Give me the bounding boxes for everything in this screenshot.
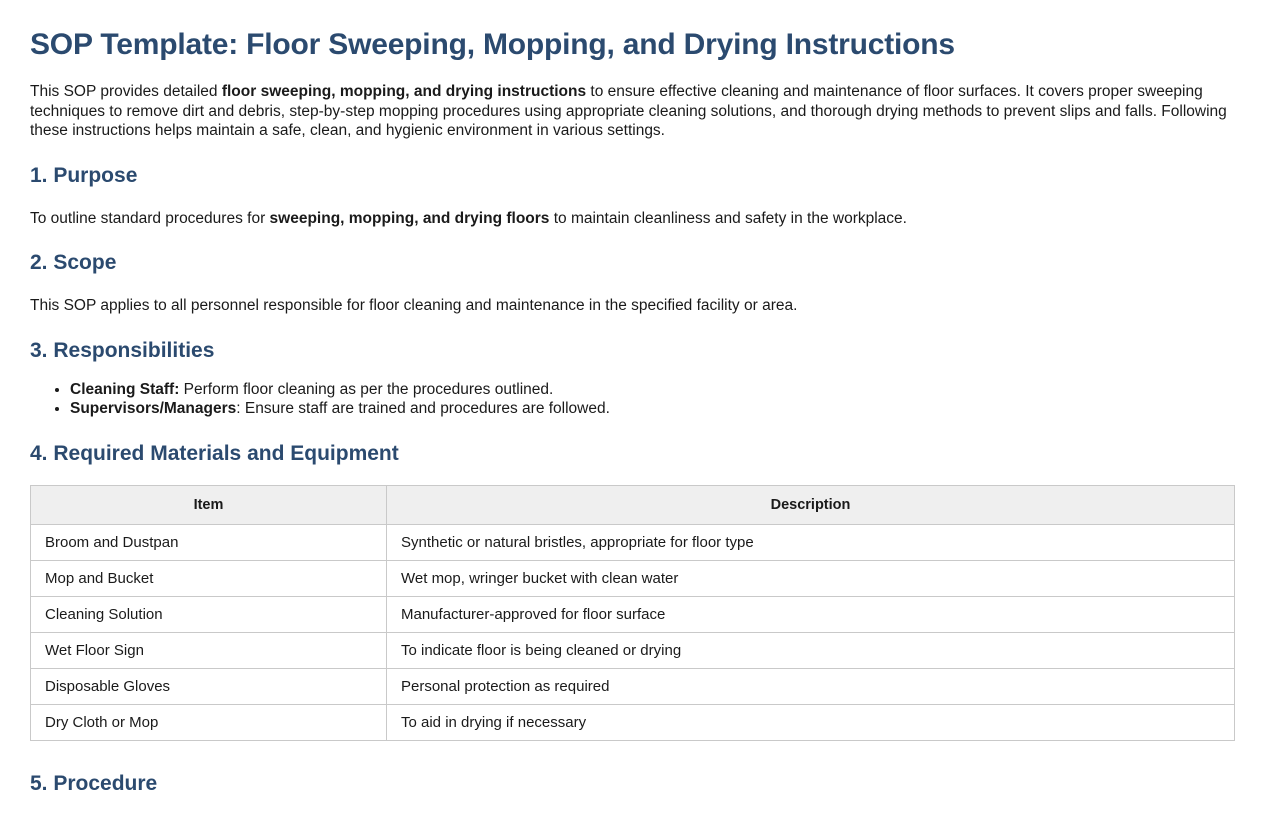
cell-description: Personal protection as required xyxy=(387,668,1235,704)
table-row: Disposable Gloves Personal protection as… xyxy=(31,668,1235,704)
document-page: SOP Template: Floor Sweeping, Mopping, a… xyxy=(0,0,1263,797)
responsibility-role-label: Supervisors/Managers xyxy=(70,400,236,417)
cell-description: Synthetic or natural bristles, appropria… xyxy=(387,524,1235,560)
table-row: Cleaning Solution Manufacturer-approved … xyxy=(31,596,1235,632)
section-heading-procedure: 5. Procedure xyxy=(30,771,1233,797)
list-item: Supervisors/Managers: Ensure staff are t… xyxy=(70,399,1233,419)
purpose-text: To outline standard procedures for sweep… xyxy=(30,209,1233,229)
table-row: Broom and Dustpan Synthetic or natural b… xyxy=(31,524,1235,560)
scope-text: This SOP applies to all personnel respon… xyxy=(30,296,1233,316)
responsibilities-list: Cleaning Staff: Perform floor cleaning a… xyxy=(30,380,1233,419)
section-heading-responsibilities: 3. Responsibilities xyxy=(30,338,1233,364)
cell-description: To aid in drying if necessary xyxy=(387,704,1235,740)
responsibility-description: : Ensure staff are trained and procedure… xyxy=(236,400,610,417)
table-row: Wet Floor Sign To indicate floor is bein… xyxy=(31,632,1235,668)
cell-description: To indicate floor is being cleaned or dr… xyxy=(387,632,1235,668)
responsibility-description: Perform floor cleaning as per the proced… xyxy=(179,381,553,398)
intro-bold-phrase: floor sweeping, mopping, and drying inst… xyxy=(222,83,586,100)
cell-description: Manufacturer-approved for floor surface xyxy=(387,596,1235,632)
column-header-description: Description xyxy=(387,485,1235,524)
table-header-row: Item Description xyxy=(31,485,1235,524)
cell-item: Wet Floor Sign xyxy=(31,632,387,668)
page-title: SOP Template: Floor Sweeping, Mopping, a… xyxy=(30,26,1233,64)
cell-description: Wet mop, wringer bucket with clean water xyxy=(387,560,1235,596)
column-header-item: Item xyxy=(31,485,387,524)
purpose-text-part2: to maintain cleanliness and safety in th… xyxy=(549,210,907,227)
cell-item: Disposable Gloves xyxy=(31,668,387,704)
purpose-bold-phrase: sweeping, mopping, and drying floors xyxy=(270,210,550,227)
purpose-text-part1: To outline standard procedures for xyxy=(30,210,270,227)
materials-table: Item Description Broom and Dustpan Synth… xyxy=(30,485,1235,741)
table-header: Item Description xyxy=(31,485,1235,524)
section-heading-purpose: 1. Purpose xyxy=(30,163,1233,189)
cell-item: Dry Cloth or Mop xyxy=(31,704,387,740)
responsibility-role-label: Cleaning Staff: xyxy=(70,381,179,398)
list-item: Cleaning Staff: Perform floor cleaning a… xyxy=(70,380,1233,400)
cell-item: Mop and Bucket xyxy=(31,560,387,596)
cell-item: Cleaning Solution xyxy=(31,596,387,632)
section-heading-scope: 2. Scope xyxy=(30,250,1233,276)
table-row: Mop and Bucket Wet mop, wringer bucket w… xyxy=(31,560,1235,596)
cell-item: Broom and Dustpan xyxy=(31,524,387,560)
table-body: Broom and Dustpan Synthetic or natural b… xyxy=(31,524,1235,740)
section-heading-materials: 4. Required Materials and Equipment xyxy=(30,441,1233,467)
intro-paragraph: This SOP provides detailed floor sweepin… xyxy=(30,82,1233,141)
table-row: Dry Cloth or Mop To aid in drying if nec… xyxy=(31,704,1235,740)
intro-text-part1: This SOP provides detailed xyxy=(30,83,222,100)
